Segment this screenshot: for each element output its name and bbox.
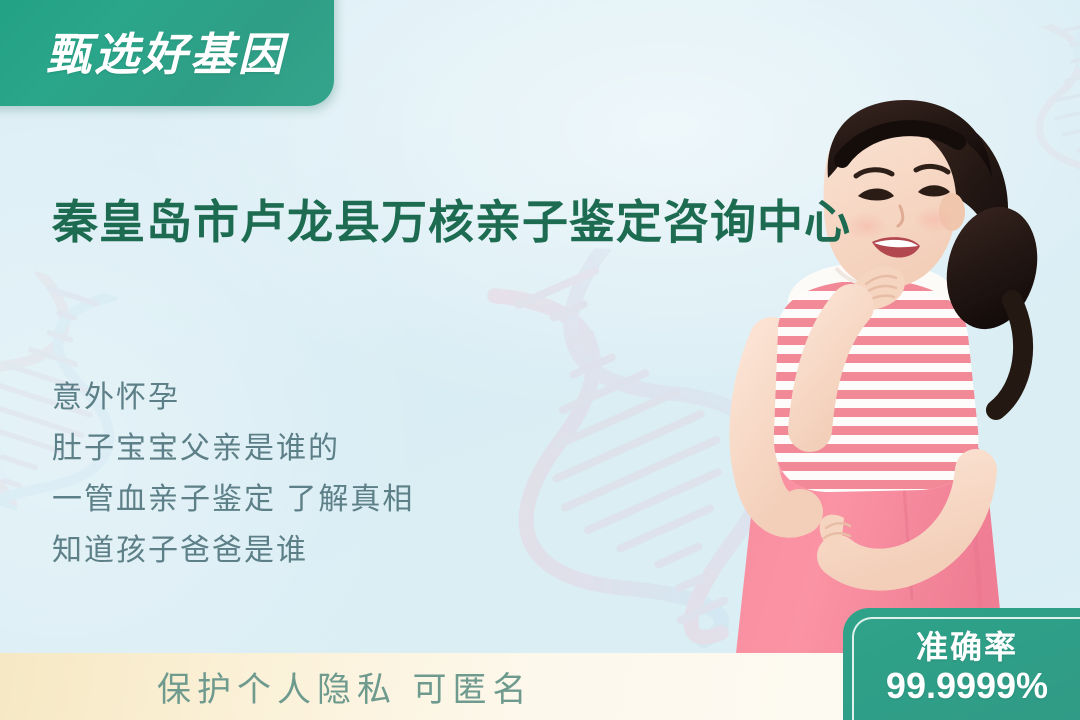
copy-line: 知道孩子爸爸是谁 [52, 525, 612, 576]
accuracy-badge-inner: 准确率 99.9999% [852, 617, 1080, 720]
page-title: 秦皇岛市卢龙县万核亲子鉴定咨询中心 [52, 191, 852, 253]
copy-line: 一管血亲子鉴定 了解真相 [52, 474, 612, 525]
brand-logo-text: 甄选好基因 [46, 18, 286, 83]
accuracy-badge: 准确率 99.9999% [843, 608, 1080, 720]
marketing-copy-list: 意外怀孕 肚子宝宝父亲是谁的 一管血亲子鉴定 了解真相 知道孩子爸爸是谁 [52, 372, 612, 576]
brand-logo-badge[interactable]: 甄选好基因 [0, 0, 334, 106]
privacy-footer-text: 保护个人隐私 可匿名 [157, 662, 532, 711]
accuracy-value: 99.9999% [886, 665, 1048, 707]
copy-line: 意外怀孕 [52, 372, 612, 423]
copy-line: 肚子宝宝父亲是谁的 [52, 423, 612, 474]
promotional-banner: 甄选好基因 秦皇岛市卢龙县万核亲子鉴定咨询中心 意外怀孕 肚子宝宝父亲是谁的 一… [0, 0, 1080, 720]
accuracy-label: 准确率 [916, 629, 1018, 665]
privacy-footer-bar: 保护个人隐私 可匿名 [0, 653, 852, 720]
